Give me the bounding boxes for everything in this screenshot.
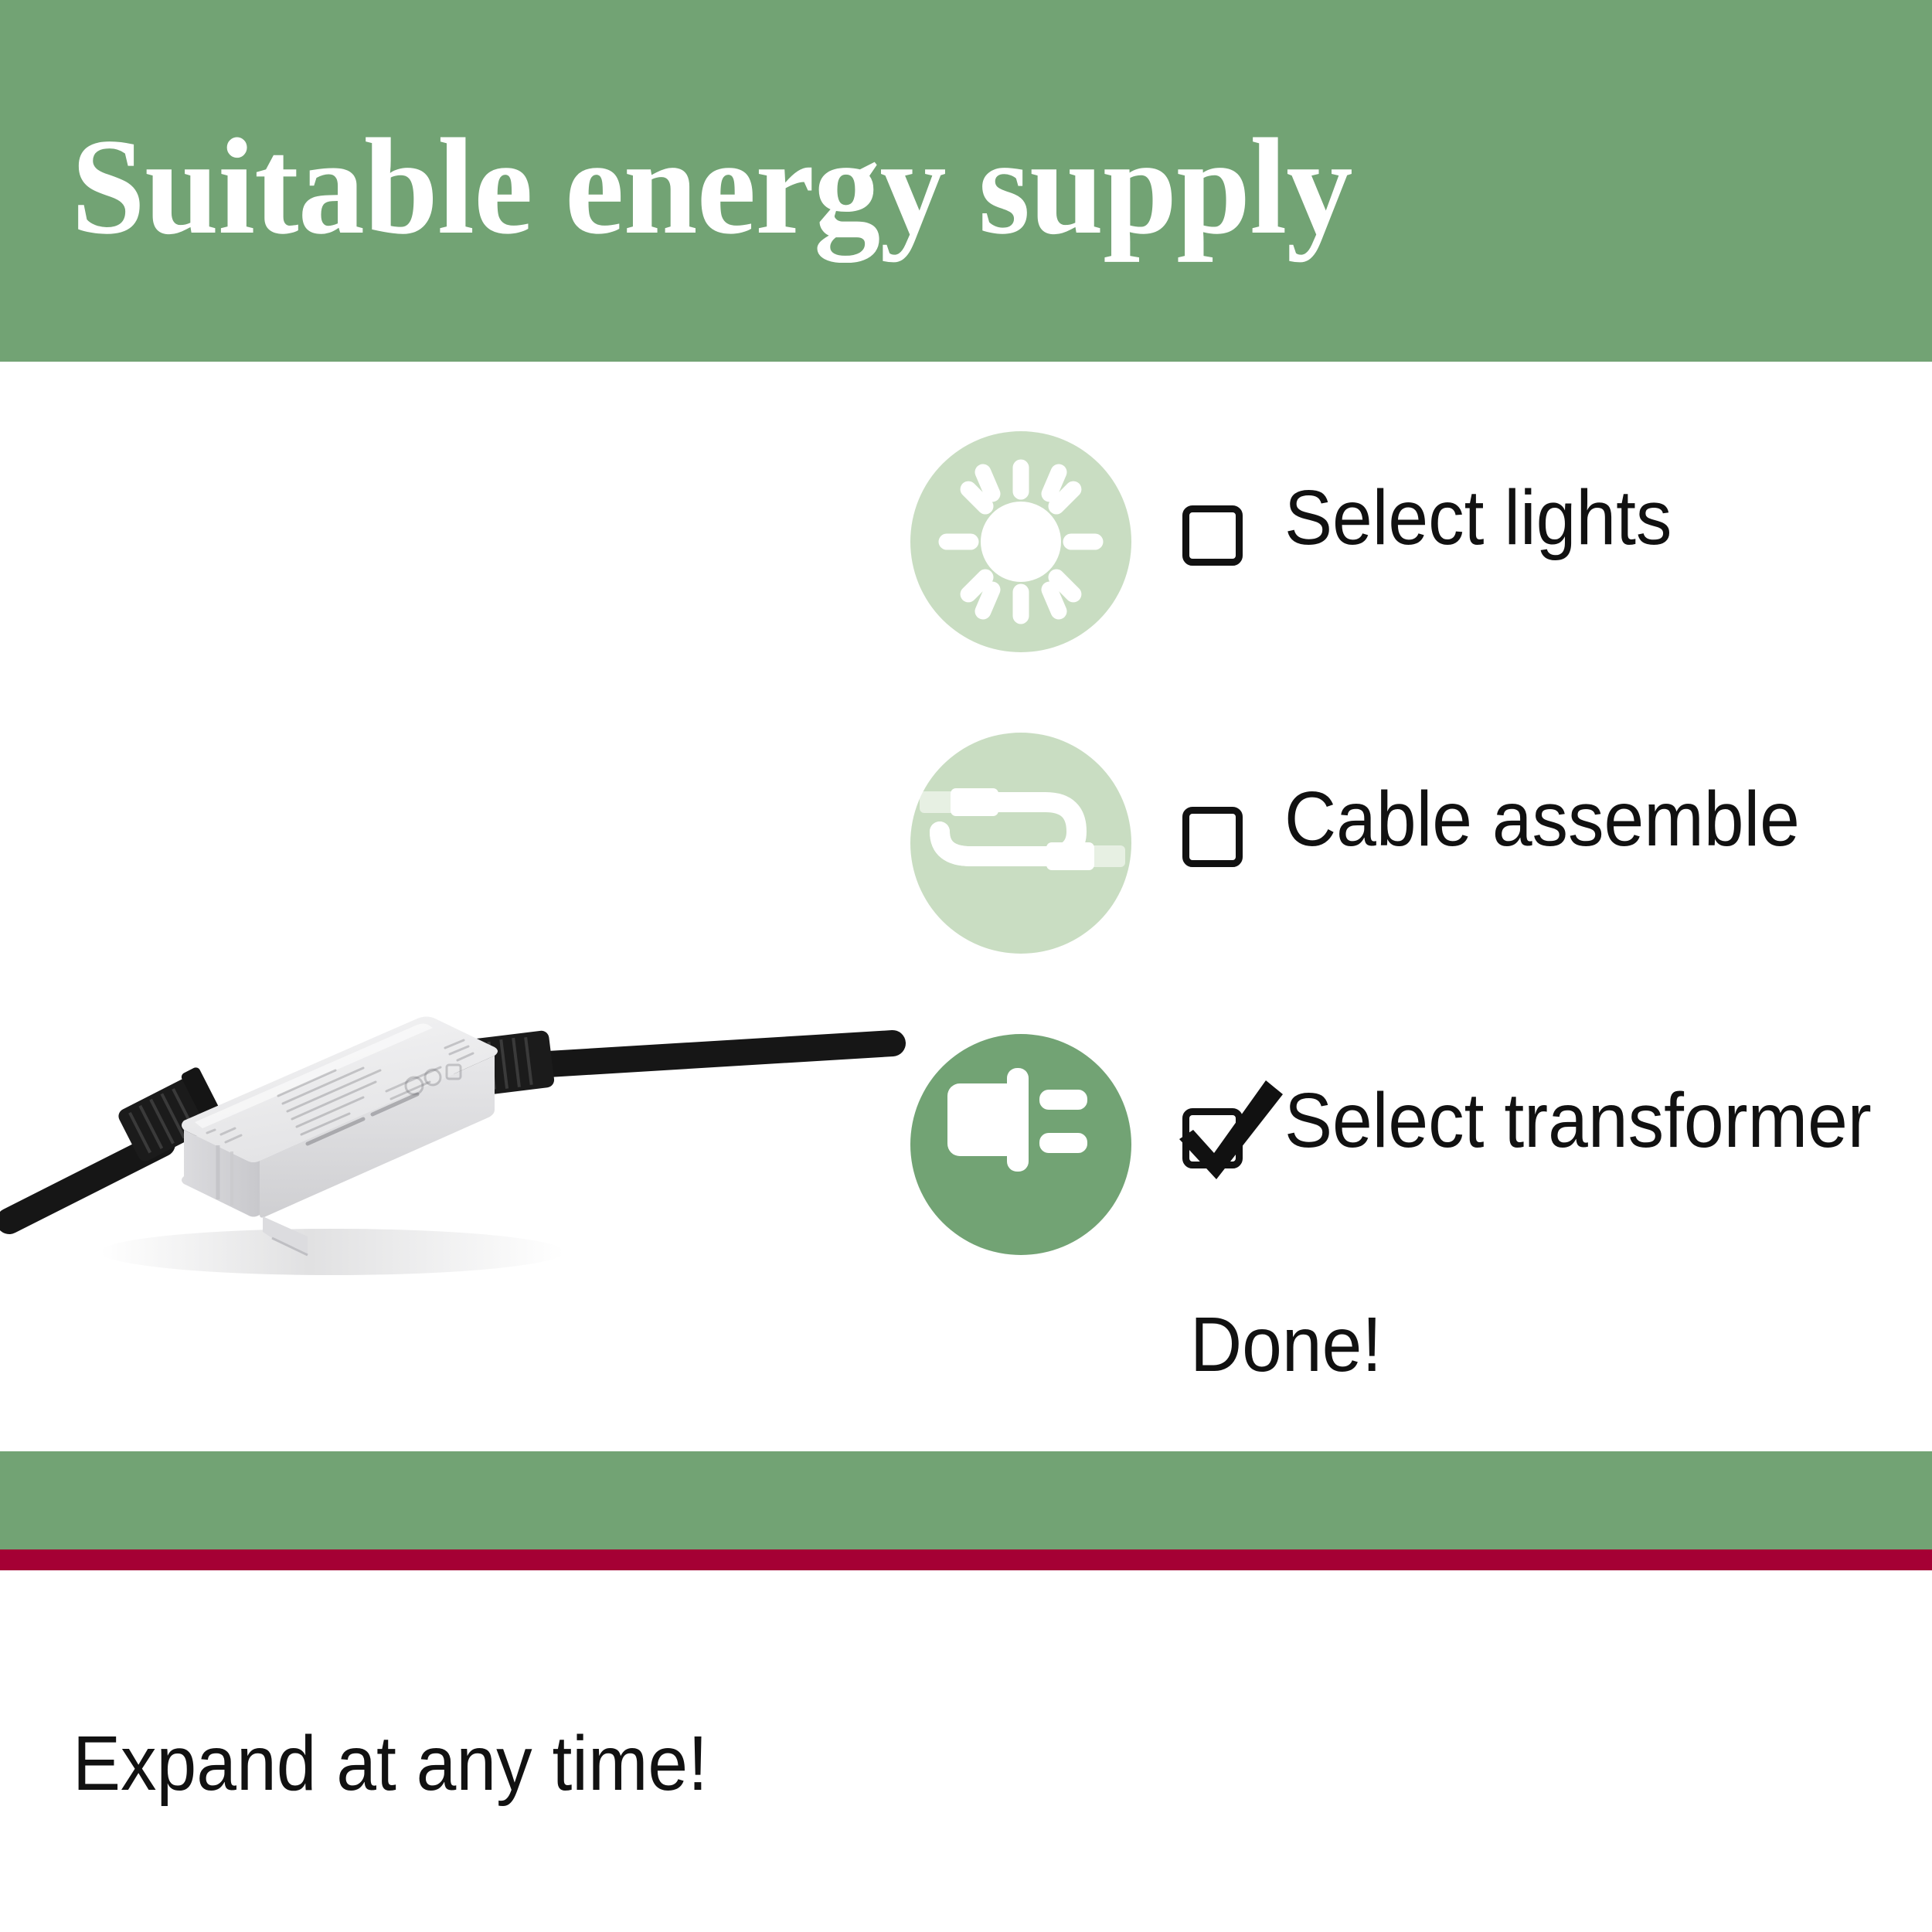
checkbox-cable-assemble[interactable]	[1182, 807, 1243, 867]
sun-icon	[910, 431, 1131, 652]
status-done-text: Done!	[1190, 1306, 1382, 1383]
checklist-label-cable-assemble: Cable assemble	[1284, 781, 1800, 858]
footer-caption: Expand at any time!	[73, 1725, 708, 1802]
checklist: Select lights Cable assemble	[910, 431, 1915, 1335]
checkbox-select-transformer[interactable]	[1182, 1108, 1243, 1168]
checklist-label-select-lights: Select lights	[1284, 479, 1672, 556]
plug-icon	[910, 1034, 1131, 1255]
checklist-row-cable-assemble[interactable]: Cable assemble	[910, 733, 1915, 1034]
cable-icon	[910, 733, 1131, 954]
checklist-label-select-transformer: Select transformer	[1284, 1082, 1872, 1159]
checklist-row-select-lights[interactable]: Select lights	[910, 431, 1915, 733]
checkbox-select-lights[interactable]	[1182, 505, 1243, 566]
transformer-product-image	[0, 889, 896, 1321]
footer-red-bar	[0, 1549, 1932, 1570]
footer-green-bar	[0, 1451, 1932, 1549]
page-title: Suitable energy supply	[71, 117, 1352, 255]
checklist-row-select-transformer[interactable]: Select transformer	[910, 1034, 1915, 1335]
